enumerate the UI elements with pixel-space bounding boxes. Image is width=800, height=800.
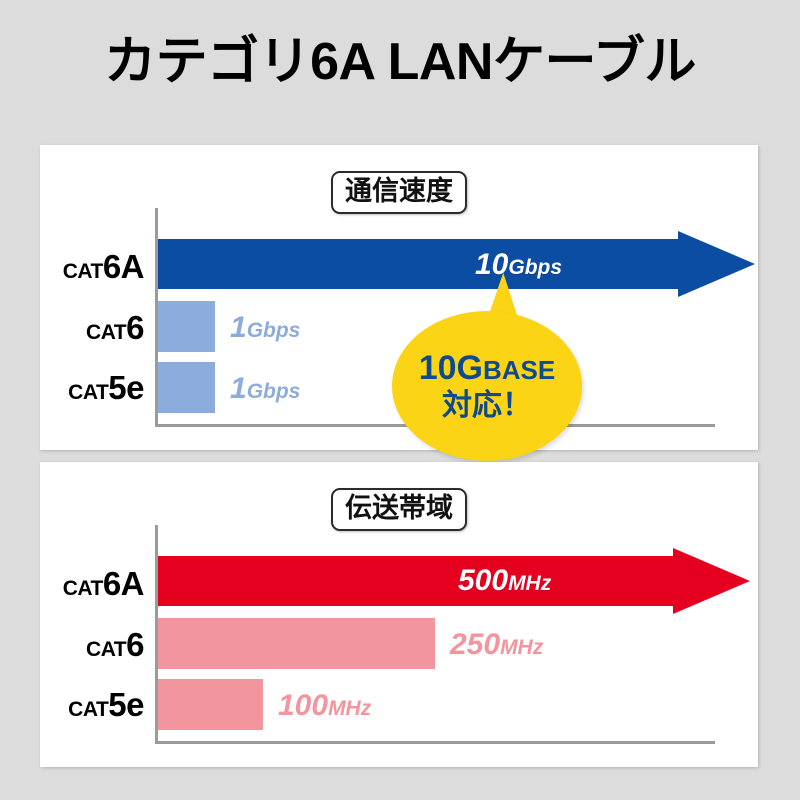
category-prefix: CAT bbox=[63, 577, 103, 600]
chart-title-chip-speed: 通信速度 bbox=[331, 171, 467, 214]
category-label-cat5e-bandwidth: CAT5e bbox=[68, 688, 144, 721]
callout-bubble: 10GBASE 対応！ bbox=[392, 311, 582, 461]
category-label-cat6a-bandwidth: CAT6A bbox=[63, 567, 144, 600]
value-label-cat6-bandwidth: 250MHz bbox=[450, 630, 543, 660]
category-value: 6A bbox=[103, 248, 144, 285]
panel-transmission-bandwidth: 伝送帯域 CAT6A 500MHz CAT6 250MHz CAT5e 100M… bbox=[40, 462, 758, 767]
category-label-cat6a-speed: CAT6A bbox=[63, 250, 144, 283]
chart-title-chip-bandwidth: 伝送帯域 bbox=[331, 488, 467, 531]
value-label-cat6a-bandwidth: 500MHz bbox=[458, 566, 551, 596]
callout-line-2: 対応！ bbox=[442, 391, 532, 421]
category-label-cat5e-speed: CAT5e bbox=[68, 371, 144, 404]
category-value: 6 bbox=[126, 626, 144, 663]
bar-cat5e-speed bbox=[158, 362, 215, 413]
category-prefix: CAT bbox=[68, 698, 108, 721]
panel-communication-speed: 通信速度 CAT6A 10Gbps CAT6 1Gbps CAT5e 1Gbps bbox=[40, 145, 758, 450]
callout-10gbase: 10GBASE 対応！ bbox=[392, 275, 588, 455]
category-value: 6 bbox=[126, 309, 144, 346]
category-value: 5e bbox=[108, 369, 144, 406]
category-prefix: CAT bbox=[68, 381, 108, 404]
category-value: 5e bbox=[108, 686, 144, 723]
x-axis-line-bandwidth bbox=[155, 741, 715, 744]
bar-cat6-bandwidth bbox=[158, 618, 435, 669]
value-label-cat6-speed: 1Gbps bbox=[230, 313, 300, 343]
chart-communication-speed: 通信速度 CAT6A 10Gbps CAT6 1Gbps CAT5e 1Gbps bbox=[40, 145, 758, 450]
category-prefix: CAT bbox=[63, 260, 103, 283]
callout-line-1: 10GBASE bbox=[419, 351, 556, 385]
category-prefix: CAT bbox=[86, 321, 126, 344]
value-label-cat5e-speed: 1Gbps bbox=[230, 374, 300, 404]
category-label-cat6-speed: CAT6 bbox=[86, 311, 144, 344]
category-value: 6A bbox=[103, 565, 144, 602]
page-title: カテゴリ6A LANケーブル bbox=[0, 36, 800, 88]
bar-cat5e-bandwidth bbox=[158, 679, 263, 730]
category-prefix: CAT bbox=[86, 638, 126, 661]
category-label-cat6-bandwidth: CAT6 bbox=[86, 628, 144, 661]
chart-transmission-bandwidth: 伝送帯域 CAT6A 500MHz CAT6 250MHz CAT5e 100M… bbox=[40, 462, 758, 767]
value-label-cat5e-bandwidth: 100MHz bbox=[278, 691, 371, 721]
bar-cat6-speed bbox=[158, 301, 215, 352]
